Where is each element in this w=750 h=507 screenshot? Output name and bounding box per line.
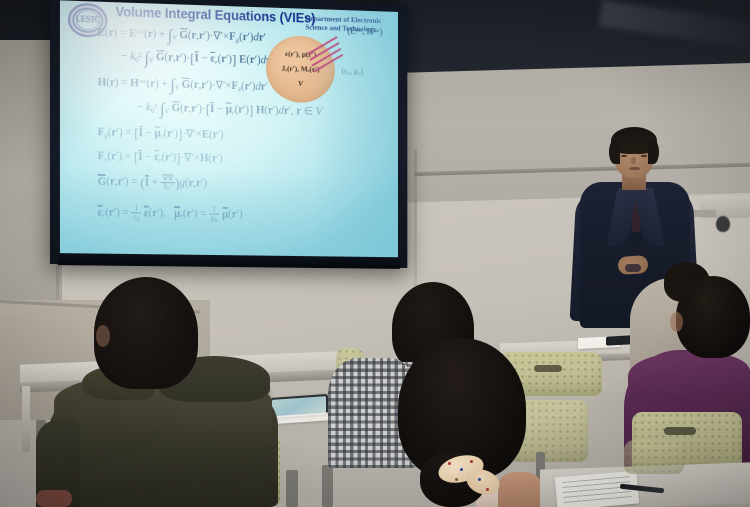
phone-on-desk bbox=[606, 335, 632, 345]
chair-leg bbox=[286, 470, 298, 507]
presenter-held-object bbox=[625, 264, 641, 272]
chair-handle-slot bbox=[664, 427, 696, 435]
scatterer-label-3: V bbox=[266, 78, 335, 89]
presenter-hair-right bbox=[648, 140, 659, 164]
chair-leg bbox=[322, 465, 333, 507]
lecture-chair[interactable] bbox=[624, 440, 684, 474]
equation-1: E(r) = Einc(r) + ∫V G(r,r′)·∇′×Fg(r′)dr′ bbox=[98, 26, 266, 45]
lecture-hall-photo: UESTC Volume Integral Equations (VIEs) D… bbox=[0, 0, 750, 507]
equation-8: εr(r′) = 1ε0 ε(r′), μr(r′) = 1μ0 μ(r′) bbox=[98, 204, 243, 225]
equation-7: G(r,r′) = (I + ∇∇k02)g(r,r′) bbox=[98, 173, 207, 194]
equation-3: H(r) = Hinc(r) + ∫V G(r,r′)·∇′×Fe(r′)dr′ bbox=[98, 75, 268, 94]
presenter-nose bbox=[631, 157, 636, 164]
equation-4: − k02 ∫V G(r,r′)·[I − μr(r′)] H(r′)dr′, … bbox=[137, 100, 322, 120]
desk-leg bbox=[22, 386, 30, 452]
presenter-eyebrow-right bbox=[640, 150, 648, 152]
audience-center-neck bbox=[498, 472, 542, 507]
projection-screen-frame: UESTC Volume Integral Equations (VIEs) D… bbox=[50, 0, 407, 268]
incident-wave-arrows bbox=[305, 30, 352, 63]
chair-handle-slot bbox=[534, 365, 562, 372]
audience-right-purple-head bbox=[676, 276, 750, 358]
audience-right-purple-shoulder bbox=[628, 352, 750, 400]
equation-6: Fe(r′) = [I − εr(r′)]·∇′×H(r′) bbox=[98, 149, 223, 167]
presenter-hair-left bbox=[609, 140, 620, 164]
audience-left-ear bbox=[96, 325, 110, 347]
paper-text-lines bbox=[562, 476, 633, 506]
seal-logo-text: UESTC bbox=[70, 14, 106, 25]
audience-right-purple-ear bbox=[670, 312, 683, 332]
background-medium-label: (ε₀, μ₀) bbox=[341, 67, 363, 76]
presenter-eyebrow-left bbox=[620, 150, 628, 152]
fixture-knob bbox=[716, 216, 730, 232]
audience-left-hand bbox=[36, 490, 72, 507]
chair-perforation bbox=[624, 440, 684, 474]
projected-slide: UESTC Volume Integral Equations (VIEs) D… bbox=[60, 0, 398, 257]
equation-5: Fg(r′) = [I − μr(r′)]·∇′×E(r′) bbox=[98, 125, 224, 144]
slide-title: Volume Integral Equations (VIEs) bbox=[115, 4, 323, 26]
